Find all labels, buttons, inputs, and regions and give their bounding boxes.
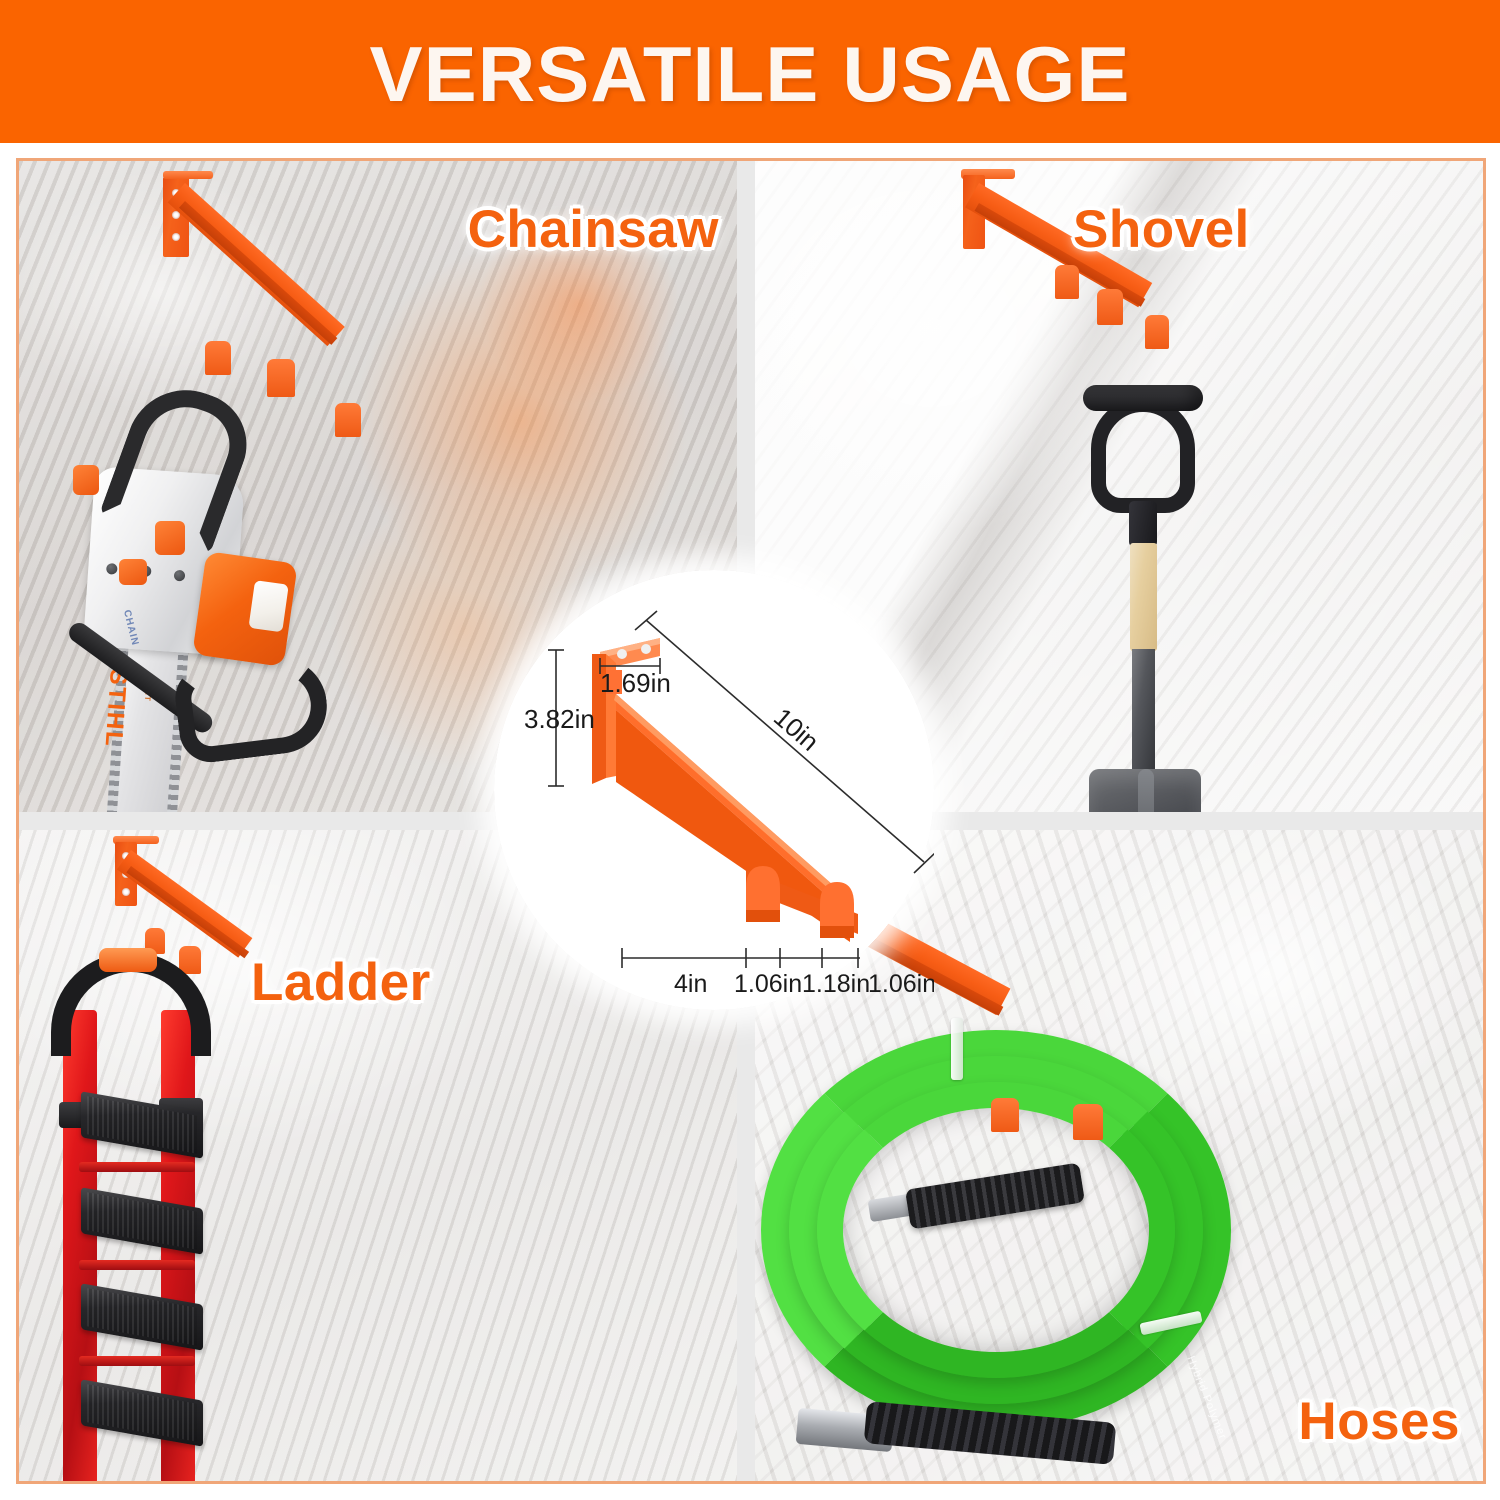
chainsaw-sticker: CHAIN bbox=[121, 609, 141, 647]
quadrant-label-ladder: Ladder bbox=[251, 952, 551, 1484]
bracket-screw-hole bbox=[122, 888, 130, 896]
quadrant-label-hoses: Hoses bbox=[1298, 1391, 1460, 1452]
chainsaw-knob bbox=[119, 559, 147, 585]
dimension-text-arm-length: 10in bbox=[768, 702, 825, 757]
header-banner: VERSATILE USAGE bbox=[0, 0, 1500, 143]
tool-hose-coil: Hybrid Polymer bbox=[761, 1030, 1281, 1470]
chainsaw-vent bbox=[174, 570, 186, 582]
ladder-handle-hook bbox=[99, 948, 157, 972]
bracket-hook-tab bbox=[991, 1098, 1019, 1132]
dimension-text-gap: 1.18in bbox=[802, 970, 870, 998]
chainsaw-battery bbox=[192, 551, 298, 667]
page-title: VERSATILE USAGE bbox=[370, 35, 1131, 113]
hose-zip-tie bbox=[951, 1018, 963, 1080]
dimension-text-base-left: 4in bbox=[674, 970, 707, 998]
dimension-text-hook-1: 1.06in bbox=[734, 970, 802, 998]
chainsaw-knob bbox=[73, 465, 99, 495]
shovel-blade-rib bbox=[1138, 769, 1154, 812]
infographic-root: VERSATILE USAGE bbox=[0, 0, 1500, 1500]
bracket-top-lip bbox=[163, 171, 213, 179]
tool-chainsaw: STIHL LIGHT 04 CHAIN bbox=[59, 361, 359, 812]
dimension-text-plate-width: 1.69in bbox=[600, 668, 671, 698]
dimension-text-height: 3.82in bbox=[524, 704, 595, 734]
ladder-crossbar bbox=[79, 1260, 195, 1270]
quadrant-label-chainsaw: Chainsaw bbox=[468, 199, 719, 260]
bracket-arm-shadow bbox=[179, 201, 337, 345]
ladder-crossbar bbox=[79, 1356, 195, 1366]
ladder-crossbar bbox=[79, 1162, 195, 1172]
chainsaw-battery-face bbox=[248, 580, 288, 632]
quadrant-label-shovel: Shovel bbox=[1073, 199, 1213, 599]
hose-sidewall-print: Hybrid Polymer bbox=[1184, 1354, 1229, 1441]
shovel-blade bbox=[1089, 769, 1201, 812]
bracket-screw-hole bbox=[172, 233, 180, 241]
dimension-callout-circle: 3.82in 1.69in 10in 4in 1.06in 1.18in 1.0… bbox=[494, 570, 934, 1010]
dimension-text-hook-2: 1.06in bbox=[868, 970, 934, 998]
dimension-diagram: 3.82in 1.69in 10in 4in 1.06in 1.18in 1.0… bbox=[494, 570, 934, 1010]
chainsaw-rear-handle bbox=[172, 652, 333, 766]
chainsaw-vent bbox=[106, 563, 118, 575]
bracket-hook-tab bbox=[1073, 1104, 1103, 1140]
